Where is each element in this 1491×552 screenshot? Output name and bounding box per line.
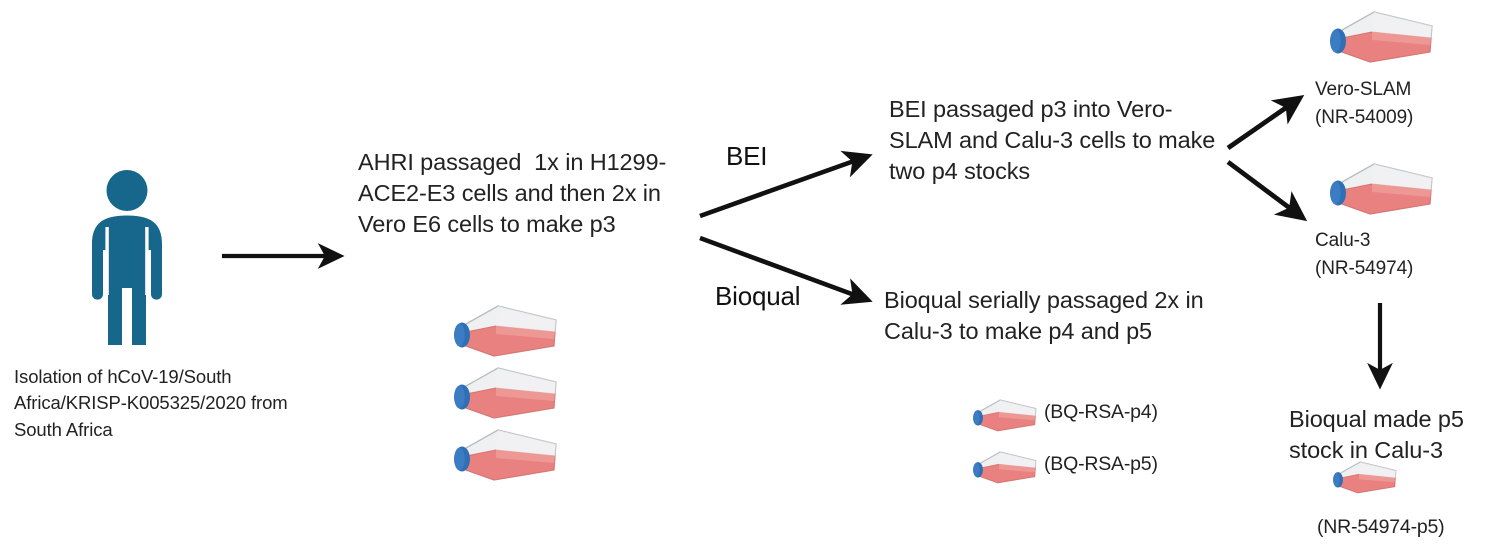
calu3-catalog: (NR-54974) xyxy=(1315,256,1413,283)
arrow-layer xyxy=(0,0,1491,552)
edge-bei-to-calu3 xyxy=(1228,162,1303,218)
edge-label-bioqual: Bioqual xyxy=(715,279,800,313)
bioqual-p5-catalog: (NR-54974-p5) xyxy=(1317,515,1444,541)
bioqual-branch-text: Bioqual serially passaged 2x in Calu-3 t… xyxy=(884,285,1204,347)
bioqual-p5-text: Bioqual made p5 stock in Calu-3 xyxy=(1289,404,1489,466)
flask-icon xyxy=(1312,8,1442,68)
flask-icon xyxy=(962,448,1042,488)
bei-branch-text: BEI passaged p3 into Vero-SLAM and Calu-… xyxy=(889,94,1227,187)
bq-rsa-p4-label: (BQ-RSA-p4) xyxy=(1044,400,1158,426)
flask-icon xyxy=(436,302,566,362)
flask-icon xyxy=(436,426,566,486)
edge-bei-to-vero-slam xyxy=(1228,98,1300,148)
calu3-name: Calu-3 xyxy=(1315,228,1370,255)
person-icon xyxy=(88,170,166,345)
vero-slam-catalog: (NR-54009) xyxy=(1315,105,1413,132)
edge-label-bei: BEI xyxy=(726,139,767,173)
patient-caption: Isolation of hCoV-19/South Africa/KRISP-… xyxy=(14,364,304,443)
flask-icon xyxy=(1322,458,1402,498)
bq-rsa-p5-label: (BQ-RSA-p5) xyxy=(1044,452,1158,478)
vero-slam-name: Vero-SLAM xyxy=(1315,77,1411,104)
flask-icon xyxy=(962,396,1042,436)
flask-icon xyxy=(436,364,566,424)
ahri-passage-text: AHRI passaged 1x in H1299-ACE2-E3 cells … xyxy=(358,147,688,240)
flask-icon xyxy=(1312,160,1442,220)
diagram-canvas: Isolation of hCoV-19/South Africa/KRISP-… xyxy=(0,0,1491,552)
